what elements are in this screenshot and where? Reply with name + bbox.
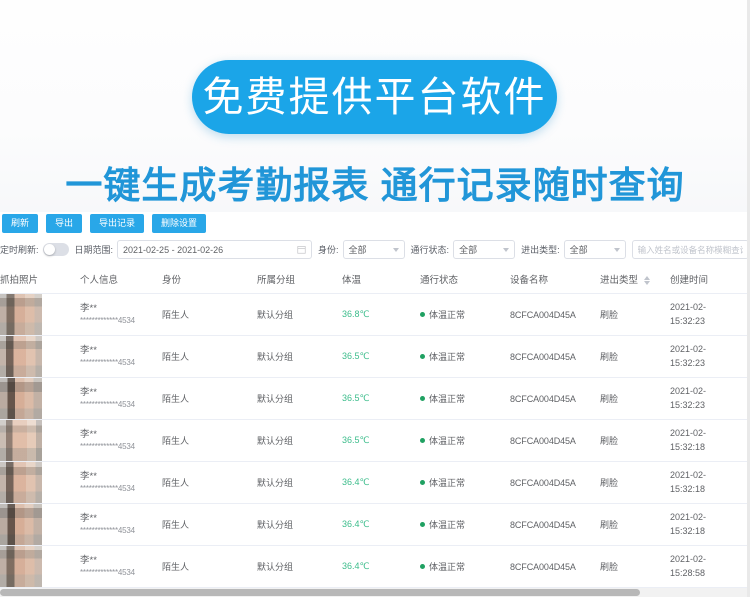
cell-photo[interactable] [0, 504, 80, 546]
create-time-date: 2021-02- [670, 427, 750, 440]
device-name: 8CFCA004D45A [510, 520, 576, 530]
table-body: 李***************4534陌生人默认分组36.8℃体温正常8CFC… [0, 294, 750, 588]
device-name: 8CFCA004D45A [510, 310, 576, 320]
cell-pass-state: 体温正常 [420, 546, 510, 588]
cell-group: 默认分组 [257, 546, 342, 588]
records-table: 抓拍照片 个人信息 身份 所属分组 体温 通行状态 设备名称 进出类型 创建时间… [0, 265, 750, 588]
create-time-clock: 15:28:58 [670, 567, 750, 580]
pass-state-text: 体温正常 [429, 434, 465, 447]
col-identity[interactable]: 身份 [162, 265, 257, 294]
cell-personal-info: 李***************4534 [80, 504, 162, 546]
cell-personal-info: 李***************4534 [80, 462, 162, 504]
temperature-value: 36.4℃ [342, 477, 370, 487]
auto-refresh-label: 定时刷新: [0, 243, 39, 256]
person-name: 李** [80, 303, 162, 316]
person-id-masked: *************4534 [80, 442, 162, 453]
pass-state-select[interactable]: 全部 [453, 240, 515, 259]
cell-inout-type: 刷脸 [600, 546, 670, 588]
chevron-down-icon [503, 248, 509, 252]
create-time-clock: 15:32:23 [670, 399, 750, 412]
filter-bar: 定时刷新: 日期范围: 2021-02-25 - 2021-02-26 身份: … [0, 237, 750, 265]
capture-photo-thumbnail[interactable] [0, 462, 42, 503]
person-name: 李** [80, 429, 162, 442]
temperature-value: 36.5℃ [342, 393, 370, 403]
temperature-value: 36.8℃ [342, 309, 370, 319]
person-id-masked: *************4534 [80, 358, 162, 369]
cell-group: 默认分组 [257, 336, 342, 378]
cell-temperature: 36.5℃ [342, 420, 420, 462]
cell-temperature: 36.4℃ [342, 462, 420, 504]
cell-personal-info: 李***************4534 [80, 546, 162, 588]
date-range-input[interactable]: 2021-02-25 - 2021-02-26 [117, 240, 312, 259]
inout-type-label: 进出类型: [521, 243, 560, 256]
app-panel: 刷新 导出 导出记录 删除设置 定时刷新: 日期范围: 2021-02-25 -… [0, 212, 750, 588]
cell-pass-state: 体温正常 [420, 504, 510, 546]
auto-refresh-filter: 定时刷新: [0, 243, 69, 256]
cell-personal-info: 李***************4534 [80, 420, 162, 462]
cell-photo[interactable] [0, 462, 80, 504]
pass-state-text: 体温正常 [429, 308, 465, 321]
calendar-icon [297, 245, 306, 254]
cell-temperature: 36.4℃ [342, 504, 420, 546]
refresh-button[interactable]: 刷新 [2, 214, 38, 233]
device-name: 8CFCA004D45A [510, 478, 576, 488]
capture-photo-thumbnail[interactable] [0, 420, 42, 461]
cell-temperature: 36.5℃ [342, 378, 420, 420]
cell-identity: 陌生人 [162, 378, 257, 420]
export-records-button[interactable]: 导出记录 [90, 214, 144, 233]
identity-filter: 身份: 全部 [318, 240, 405, 259]
person-id-masked: *************4534 [80, 316, 162, 327]
col-device-name[interactable]: 设备名称 [510, 265, 600, 294]
search-input[interactable]: 输入姓名或设备名称模糊查询 [632, 240, 749, 259]
col-create-time[interactable]: 创建时间 [670, 265, 750, 294]
cell-personal-info: 李***************4534 [80, 378, 162, 420]
device-name: 8CFCA004D45A [510, 436, 576, 446]
cell-temperature: 36.4℃ [342, 546, 420, 588]
temperature-value: 36.5℃ [342, 351, 370, 361]
pass-state-filter: 通行状态: 全部 [411, 240, 516, 259]
status-dot-icon [420, 312, 425, 317]
cell-device-name: 8CFCA004D45A [510, 546, 600, 588]
cell-device-name: 8CFCA004D45A [510, 378, 600, 420]
date-range-filter: 日期范围: 2021-02-25 - 2021-02-26 [75, 240, 313, 259]
cell-group: 默认分组 [257, 462, 342, 504]
create-time-clock: 15:32:23 [670, 315, 750, 328]
cell-inout-type: 刷脸 [600, 378, 670, 420]
chevron-down-icon [614, 248, 620, 252]
scrollbar-thumb[interactable] [0, 589, 640, 596]
create-time-clock: 15:32:18 [670, 441, 750, 454]
cell-pass-state: 体温正常 [420, 378, 510, 420]
col-inout-type[interactable]: 进出类型 [600, 265, 670, 294]
cell-photo[interactable] [0, 294, 80, 336]
cell-create-time: 2021-02-15:32:23 [670, 378, 750, 420]
cell-create-time: 2021-02-15:32:23 [670, 294, 750, 336]
person-name: 李** [80, 345, 162, 358]
temperature-value: 36.4℃ [342, 519, 370, 529]
cell-inout-type: 刷脸 [600, 462, 670, 504]
auto-refresh-toggle[interactable] [43, 243, 69, 256]
table-row[interactable]: 李***************4534陌生人默认分组36.5℃体温正常8CFC… [0, 378, 750, 420]
cell-photo[interactable] [0, 378, 80, 420]
promo-pill: 免费提供平台软件 [192, 60, 557, 134]
date-range-label: 日期范围: [75, 243, 114, 256]
capture-photo-thumbnail[interactable] [0, 504, 42, 545]
chevron-down-icon [393, 248, 399, 252]
person-name: 李** [80, 471, 162, 484]
status-dot-icon [420, 480, 425, 485]
promo-banner: 免费提供平台软件 一键生成考勤报表 通行记录随时查询 [0, 0, 750, 212]
table-row[interactable]: 李***************4534陌生人默认分组36.4℃体温正常8CFC… [0, 546, 750, 588]
export-button[interactable]: 导出 [46, 214, 82, 233]
create-time-date: 2021-02- [670, 469, 750, 482]
date-range-value: 2021-02-25 - 2021-02-26 [123, 245, 223, 255]
table-row[interactable]: 李***************4534陌生人默认分组36.5℃体温正常8CFC… [0, 336, 750, 378]
table-row[interactable]: 李***************4534陌生人默认分组36.5℃体温正常8CFC… [0, 420, 750, 462]
create-time-date: 2021-02- [670, 511, 750, 524]
sort-icon[interactable] [644, 276, 650, 285]
person-name: 李** [80, 513, 162, 526]
create-time-clock: 15:32:23 [670, 357, 750, 370]
identity-select[interactable]: 全部 [343, 240, 405, 259]
capture-photo-thumbnail[interactable] [0, 378, 42, 419]
person-name: 李** [80, 555, 162, 568]
cell-identity: 陌生人 [162, 420, 257, 462]
action-button-row: 刷新 导出 导出记录 删除设置 [0, 212, 750, 237]
delete-settings-button[interactable]: 删除设置 [152, 214, 206, 233]
pass-state-text: 体温正常 [429, 560, 465, 573]
status-dot-icon [420, 438, 425, 443]
col-personal-info[interactable]: 个人信息 [80, 265, 162, 294]
pass-state-text: 体温正常 [429, 518, 465, 531]
device-name: 8CFCA004D45A [510, 394, 576, 404]
cell-temperature: 36.5℃ [342, 336, 420, 378]
cell-device-name: 8CFCA004D45A [510, 336, 600, 378]
person-name: 李** [80, 387, 162, 400]
cell-group: 默认分组 [257, 504, 342, 546]
pass-state-label: 通行状态: [411, 243, 450, 256]
cell-personal-info: 李***************4534 [80, 294, 162, 336]
promo-headline: 一键生成考勤报表 通行记录随时查询 [0, 155, 750, 209]
inout-type-value: 全部 [570, 243, 588, 256]
cell-create-time: 2021-02-15:28:58 [670, 546, 750, 588]
cell-create-time: 2021-02-15:32:18 [670, 504, 750, 546]
person-id-masked: *************4534 [80, 526, 162, 537]
device-name: 8CFCA004D45A [510, 562, 576, 572]
create-time-date: 2021-02- [670, 385, 750, 398]
create-time-date: 2021-02- [670, 553, 750, 566]
cell-device-name: 8CFCA004D45A [510, 504, 600, 546]
capture-photo-thumbnail[interactable] [0, 294, 42, 335]
cell-group: 默认分组 [257, 420, 342, 462]
cell-create-time: 2021-02-15:32:18 [670, 420, 750, 462]
person-id-masked: *************4534 [80, 568, 162, 579]
pass-state-text: 体温正常 [429, 392, 465, 405]
table-row[interactable]: 李***************4534陌生人默认分组36.4℃体温正常8CFC… [0, 462, 750, 504]
search-placeholder: 输入姓名或设备名称模糊查询 [638, 244, 743, 256]
table-row[interactable]: 李***************4534陌生人默认分组36.8℃体温正常8CFC… [0, 294, 750, 336]
person-id-masked: *************4534 [80, 400, 162, 411]
pass-state-text: 体温正常 [429, 350, 465, 363]
col-temperature[interactable]: 体温 [342, 265, 420, 294]
cell-identity: 陌生人 [162, 504, 257, 546]
status-dot-icon [420, 522, 425, 527]
cell-pass-state: 体温正常 [420, 294, 510, 336]
col-inout-type-label: 进出类型 [600, 275, 638, 286]
create-time-date: 2021-02- [670, 301, 750, 314]
cell-inout-type: 刷脸 [600, 294, 670, 336]
identity-value: 全部 [349, 243, 367, 256]
cell-inout-type: 刷脸 [600, 504, 670, 546]
temperature-value: 36.5℃ [342, 435, 370, 445]
col-pass-state[interactable]: 通行状态 [420, 265, 510, 294]
cell-create-time: 2021-02-15:32:18 [670, 462, 750, 504]
status-dot-icon [420, 354, 425, 359]
cell-pass-state: 体温正常 [420, 420, 510, 462]
cell-device-name: 8CFCA004D45A [510, 462, 600, 504]
create-time-clock: 15:32:18 [670, 525, 750, 538]
status-dot-icon [420, 564, 425, 569]
cell-inout-type: 刷脸 [600, 420, 670, 462]
col-photo[interactable]: 抓拍照片 [0, 265, 80, 294]
cell-identity: 陌生人 [162, 294, 257, 336]
cell-device-name: 8CFCA004D45A [510, 420, 600, 462]
pass-state-text: 体温正常 [429, 476, 465, 489]
promo-pill-text: 免费提供平台软件 [203, 77, 547, 118]
temperature-value: 36.4℃ [342, 561, 370, 571]
cell-group: 默认分组 [257, 294, 342, 336]
inout-type-filter: 进出类型: 全部 [521, 240, 626, 259]
cell-identity: 陌生人 [162, 336, 257, 378]
create-time-date: 2021-02- [670, 343, 750, 356]
person-id-masked: *************4534 [80, 484, 162, 495]
capture-photo-thumbnail[interactable] [0, 546, 42, 587]
cell-device-name: 8CFCA004D45A [510, 294, 600, 336]
cell-personal-info: 李***************4534 [80, 336, 162, 378]
cell-create-time: 2021-02-15:32:23 [670, 336, 750, 378]
cell-photo[interactable] [0, 546, 80, 588]
cell-inout-type: 刷脸 [600, 336, 670, 378]
inout-type-select[interactable]: 全部 [564, 240, 626, 259]
pass-state-value: 全部 [459, 243, 477, 256]
cell-photo[interactable] [0, 336, 80, 378]
cell-temperature: 36.8℃ [342, 294, 420, 336]
identity-label: 身份: [318, 243, 339, 256]
table-header-row: 抓拍照片 个人信息 身份 所属分组 体温 通行状态 设备名称 进出类型 创建时间 [0, 265, 750, 294]
status-dot-icon [420, 396, 425, 401]
cell-group: 默认分组 [257, 378, 342, 420]
cell-identity: 陌生人 [162, 462, 257, 504]
cell-pass-state: 体温正常 [420, 462, 510, 504]
col-group[interactable]: 所属分组 [257, 265, 342, 294]
table-row[interactable]: 李***************4534陌生人默认分组36.4℃体温正常8CFC… [0, 504, 750, 546]
cell-identity: 陌生人 [162, 546, 257, 588]
create-time-clock: 15:32:18 [670, 483, 750, 496]
cell-photo[interactable] [0, 420, 80, 462]
capture-photo-thumbnail[interactable] [0, 336, 42, 377]
horizontal-scrollbar[interactable] [0, 588, 750, 597]
device-name: 8CFCA004D45A [510, 352, 576, 362]
cell-pass-state: 体温正常 [420, 336, 510, 378]
